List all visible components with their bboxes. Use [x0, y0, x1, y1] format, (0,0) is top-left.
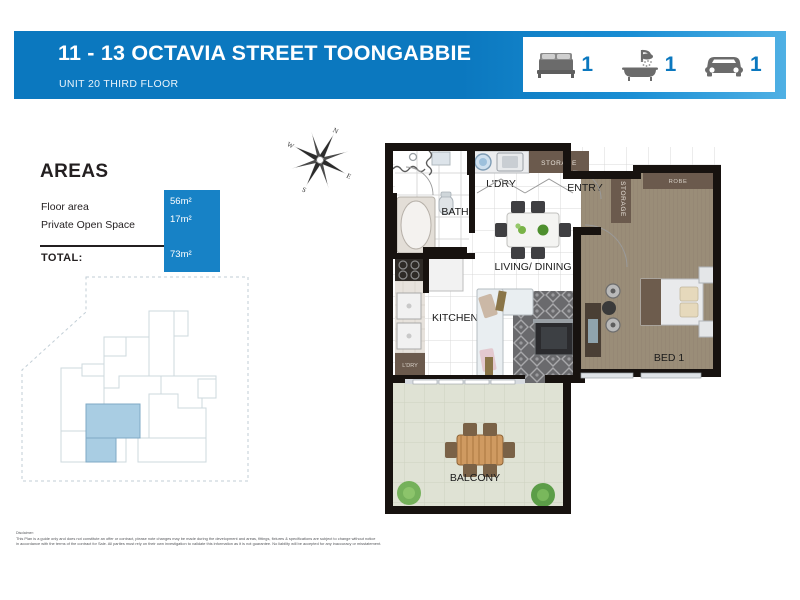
- area-value-floor: 56m²: [170, 196, 192, 207]
- room-label-laundry: L'DRY: [486, 178, 516, 190]
- car-icon: [703, 52, 745, 78]
- carspace-count: 1: [750, 54, 762, 75]
- floor-plan-drawing: BATH STORAGE L'DRY ENTRY STORAGE ROBE: [385, 143, 725, 518]
- disclaimer-line-2: in accordance with the terms of the cont…: [16, 541, 716, 546]
- bathroom-count: 1: [665, 54, 677, 75]
- bed-icon: [536, 51, 576, 79]
- bath-icon: [620, 48, 660, 82]
- compass-west: W: [286, 140, 296, 150]
- room-label-kitchen: KITCHEN: [432, 312, 478, 324]
- compass-south: S: [300, 186, 307, 195]
- room-label-balcony: BALCONY: [450, 472, 500, 484]
- compass-rose: N E S W: [284, 124, 356, 196]
- bathroom-count-cell: 1: [620, 48, 677, 82]
- balcony-plant-right: [531, 483, 555, 507]
- compass-east: E: [345, 172, 353, 181]
- areas-divider: [40, 245, 165, 247]
- tv-unit: [533, 319, 575, 355]
- areas-heading: AREAS: [40, 161, 109, 183]
- compass-north: N: [331, 126, 339, 135]
- property-feature-panel: 1: [523, 37, 775, 92]
- area-value-total: 73m²: [170, 249, 192, 260]
- bedside-table-right: [699, 321, 715, 337]
- areas-value-box: 56m² 17m² 73m²: [164, 190, 220, 272]
- bedroom-count: 1: [581, 54, 593, 75]
- room-label-laundry-lower: L'DRY: [402, 363, 418, 369]
- site-unit-outlines: [61, 311, 216, 462]
- room-label-robe: ROBE: [669, 179, 688, 185]
- area-value-pos: 17m²: [170, 214, 192, 225]
- bedside-table-left: [699, 267, 715, 283]
- basin: [432, 152, 450, 165]
- room-label-bath: BATH: [441, 206, 468, 218]
- site-unit-highlight: [86, 404, 140, 462]
- areas-row-labels: Floor area Private Open Space: [41, 198, 171, 234]
- room-label-storage-top: STORAGE: [541, 160, 577, 167]
- room-label-bedroom: BED 1: [654, 352, 685, 364]
- header-bar: 11 - 13 OCTAVIA STREET TOONGABBIE UNIT 2…: [14, 31, 786, 99]
- site-plan-diagram: [16, 276, 251, 488]
- carspace-count-cell: 1: [703, 52, 762, 78]
- areas-total-label: TOTAL:: [41, 252, 83, 264]
- disclaimer-block: Disclaimer: This Plan is a guide only an…: [16, 531, 716, 547]
- page-title: 11 - 13 OCTAVIA STREET TOONGABBIE: [58, 41, 471, 66]
- cooktop: [395, 259, 423, 281]
- area-row-label-floor: Floor area: [41, 198, 171, 216]
- decor-circle-2: [602, 301, 616, 315]
- area-row-label-pos: Private Open Space: [41, 216, 171, 234]
- bedroom-count-cell: 1: [536, 51, 593, 79]
- room-label-living-dining: LIVING/ DINING: [494, 261, 571, 273]
- room-label-entry: ENTRY: [567, 182, 602, 194]
- page-subtitle: UNIT 20 THIRD FLOOR: [59, 78, 178, 90]
- room-label-storage-entry: STORAGE: [619, 181, 626, 217]
- balcony-plant-left: [397, 481, 421, 505]
